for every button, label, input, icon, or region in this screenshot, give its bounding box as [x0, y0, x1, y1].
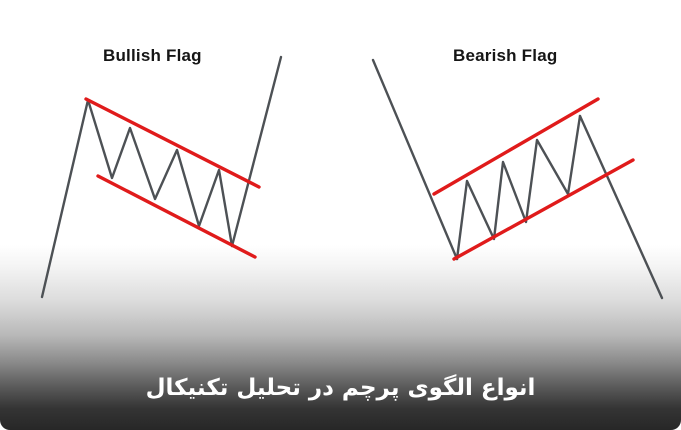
bullish-lower-trendline	[98, 176, 255, 257]
bullish-flag-chart	[42, 57, 281, 297]
caption-text: انواع الگوی پرچم در تحلیل تکنیکال	[0, 371, 681, 405]
bearish-flagpole	[373, 60, 457, 259]
bearish-consolidation-zigzag	[457, 116, 580, 259]
bullish-flagpole	[42, 100, 88, 297]
bearish-flag-chart	[373, 60, 662, 298]
bullish-consolidation-zigzag	[88, 100, 232, 246]
bullish-breakout-line	[232, 57, 281, 246]
bearish-flag-label: Bearish Flag	[453, 46, 557, 66]
infographic-canvas: Bullish Flag Bearish Flag انواع الگوی پر…	[0, 0, 681, 430]
bullish-flag-label: Bullish Flag	[103, 46, 202, 66]
bearish-breakout-line	[580, 116, 662, 298]
bearish-upper-trendline	[434, 99, 598, 194]
